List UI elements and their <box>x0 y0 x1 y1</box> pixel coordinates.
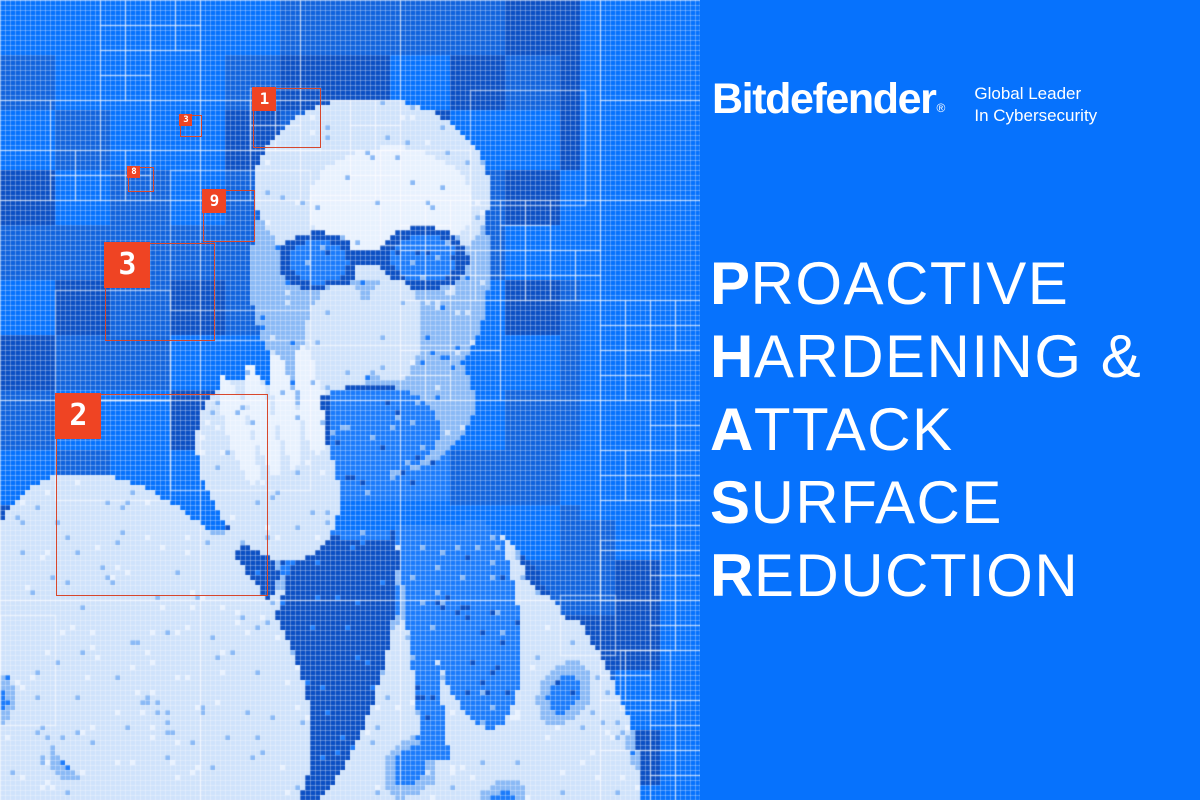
headline-line-3: ATTACK <box>710 393 1142 466</box>
headline-line-rest: TTACK <box>754 396 954 463</box>
annotation-box-1: 1 <box>253 88 321 148</box>
headline-acronym-letter: H <box>710 323 754 390</box>
tagline-line-1: Global Leader <box>974 83 1097 105</box>
bitdefender-wordmark: Bitdefender® <box>712 78 944 121</box>
annotation-tag-label: 3 <box>179 114 192 126</box>
poster-canvas: 138932 Bitdefender® Global Leader In Cyb… <box>0 0 1200 800</box>
brand-tagline: Global Leader In Cybersecurity <box>974 83 1097 127</box>
registered-trademark-icon: ® <box>937 101 946 115</box>
tagline-line-2: In Cybersecurity <box>974 105 1097 127</box>
annotation-tag-label: 3 <box>104 242 150 288</box>
headline-acronym-letter: P <box>710 250 751 317</box>
annotation-tag-label: 9 <box>202 189 226 213</box>
brand-lockup: Bitdefender® Global Leader In Cybersecur… <box>712 78 1097 127</box>
wordmark-text: Bitdefender <box>712 75 936 123</box>
headline-line-rest: ROACTIVE <box>751 250 1070 317</box>
headline-line-1: PROACTIVE <box>710 247 1142 320</box>
annotation-box-3: 3 <box>180 115 202 137</box>
annotation-box-9: 9 <box>203 190 255 242</box>
annotation-tag-label: 1 <box>252 87 276 111</box>
annotation-box-3: 3 <box>105 243 215 341</box>
headline-line-rest: URFACE <box>751 469 1003 536</box>
annotation-box-2: 2 <box>56 394 268 596</box>
headline-line-rest: ARDENING & <box>754 323 1142 390</box>
headline-line-rest: EDUCTION <box>754 542 1079 609</box>
headline-acronym-letter: A <box>710 396 754 463</box>
headline-phasr: PROACTIVEHARDENING &ATTACKSURFACEREDUCTI… <box>710 247 1142 612</box>
headline-line-2: HARDENING & <box>710 320 1142 393</box>
headline-line-4: SURFACE <box>710 466 1142 539</box>
annotation-box-8: 8 <box>128 167 154 192</box>
headline-acronym-letter: R <box>710 542 754 609</box>
headline-line-5: REDUCTION <box>710 539 1142 612</box>
annotation-tag-label: 2 <box>55 393 101 439</box>
headline-acronym-letter: S <box>710 469 751 536</box>
annotation-tag-label: 8 <box>127 166 140 178</box>
